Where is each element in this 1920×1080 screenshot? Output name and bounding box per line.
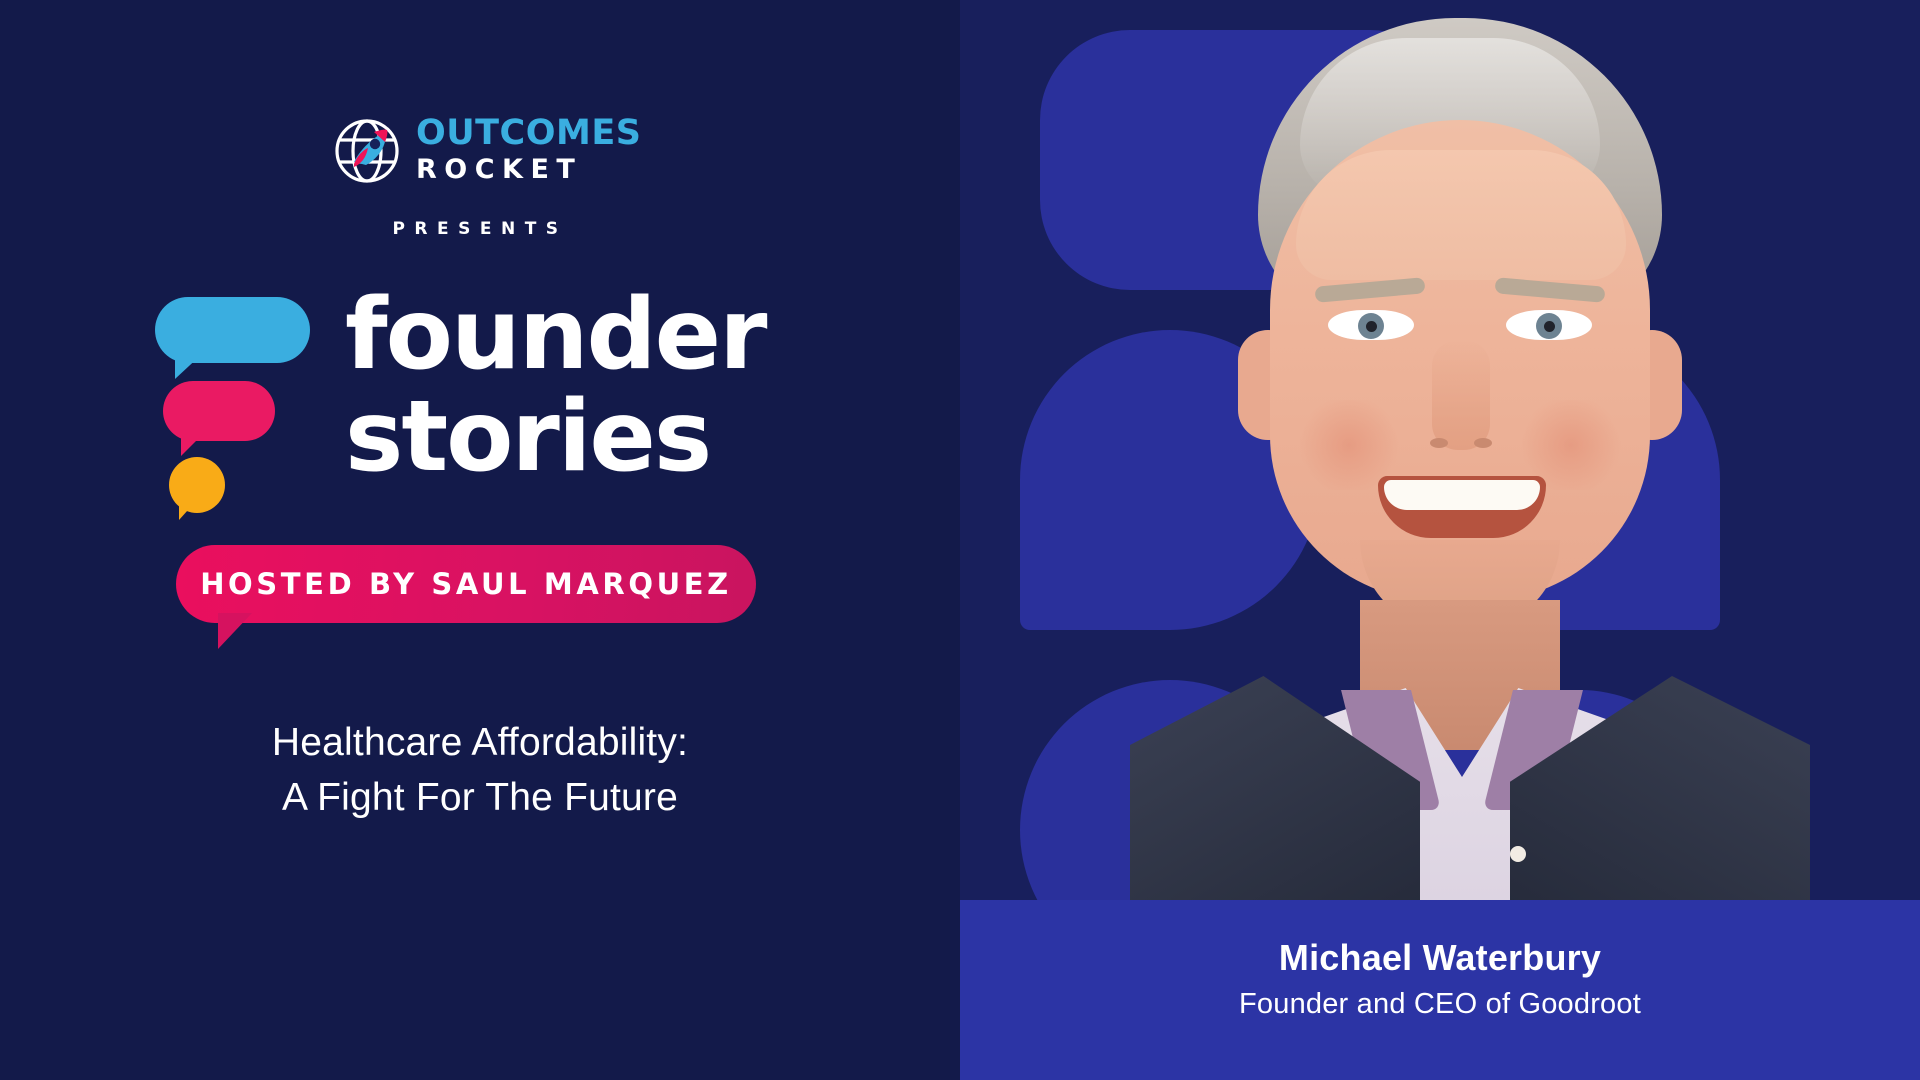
guest-role: Founder and CEO of Goodroot xyxy=(960,988,1920,1021)
guest-portrait-image xyxy=(1110,0,1810,900)
portrait-forehead xyxy=(1296,150,1626,280)
portrait-nostril-left xyxy=(1430,438,1448,448)
portrait-pupil-left xyxy=(1366,321,1377,332)
bubble-pink-icon xyxy=(163,381,275,441)
episode-cover-canvas: OUTCOMES ROCKET PRESENTS founder stories… xyxy=(0,0,1920,1080)
episode-title-line1: Healthcare Affordability: xyxy=(272,721,688,764)
brand-name-line2: ROCKET xyxy=(416,156,641,183)
left-panel: OUTCOMES ROCKET PRESENTS founder stories… xyxy=(0,0,960,1080)
show-title-line2: stories xyxy=(345,387,905,487)
host-badge-label: HOSTED BY SAUL MARQUEZ xyxy=(200,567,732,601)
presents-label: PRESENTS xyxy=(330,219,630,239)
guest-name-bar: Michael Waterbury Founder and CEO of Goo… xyxy=(960,900,1920,1080)
portrait-mouth xyxy=(1378,476,1546,538)
show-title-line1: founder xyxy=(345,278,765,392)
portrait-pupil-right xyxy=(1544,321,1555,332)
portrait-teeth xyxy=(1384,480,1540,510)
founder-stories-f-bubbles-icon xyxy=(155,297,320,487)
bubble-yellow-icon xyxy=(169,457,225,513)
guest-name: Michael Waterbury xyxy=(960,937,1920,979)
episode-title: Healthcare Affordability: A Fight For Th… xyxy=(110,715,850,825)
bubble-yellow-tail-icon xyxy=(179,500,197,520)
portrait-shirt-button xyxy=(1510,846,1526,862)
host-badge-tail-icon xyxy=(218,613,252,649)
globe-rocket-icon xyxy=(330,114,404,188)
show-title: founder stories xyxy=(345,285,905,487)
bubble-pink-tail-icon xyxy=(181,432,205,456)
episode-title-line2: A Fight For The Future xyxy=(110,770,850,825)
brand-name-line1: OUTCOMES xyxy=(416,116,641,151)
bubble-blue-tail-icon xyxy=(175,353,203,379)
right-panel: Michael Waterbury Founder and CEO of Goo… xyxy=(960,0,1920,1080)
outcomes-rocket-wordmark: OUTCOMES ROCKET xyxy=(416,116,641,183)
portrait-nose xyxy=(1432,340,1490,450)
outcomes-rocket-logo: OUTCOMES ROCKET xyxy=(330,112,630,194)
host-badge: HOSTED BY SAUL MARQUEZ xyxy=(176,545,756,623)
portrait-nostril-right xyxy=(1474,438,1492,448)
